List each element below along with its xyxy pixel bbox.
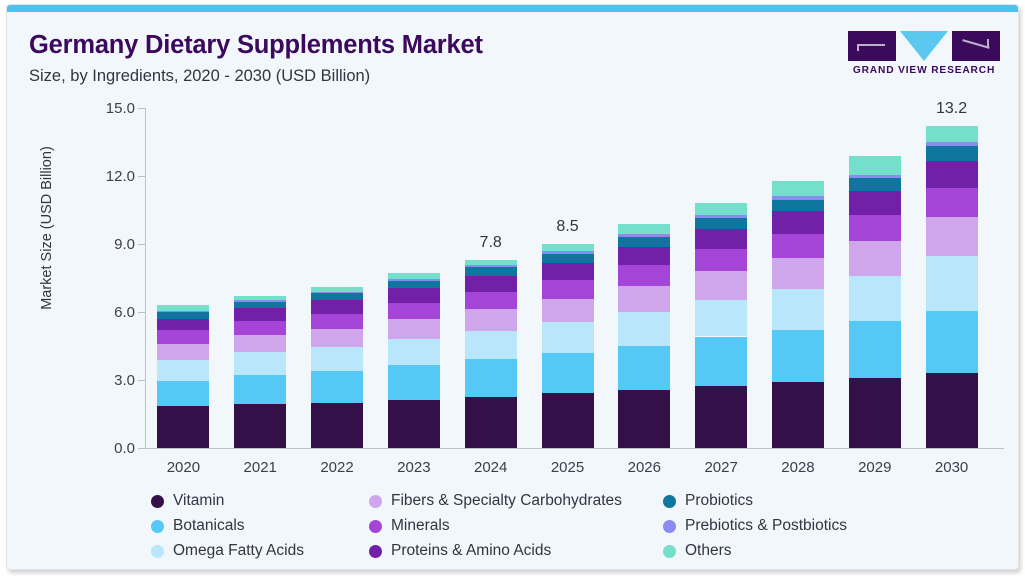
bar-segment — [542, 322, 594, 353]
bar-segment — [157, 406, 209, 448]
chart-legend: VitaminBotanicalsOmega Fatty AcidsFibers… — [151, 492, 1011, 564]
bar-segment — [465, 331, 517, 359]
bar-segment — [542, 244, 594, 251]
bar-segment — [695, 386, 747, 448]
legend-color-swatch-icon — [151, 545, 164, 558]
bar-segment — [157, 311, 209, 313]
bar-2027[interactable] — [695, 203, 747, 448]
bar-segment — [849, 175, 901, 178]
legend-item-minerals[interactable]: Minerals — [369, 517, 450, 535]
bar-segment — [465, 260, 517, 265]
bar-segment — [926, 217, 978, 256]
legend-color-swatch-icon — [369, 545, 382, 558]
bar-segment — [234, 302, 286, 309]
bar-segment — [388, 319, 440, 339]
bar-segment — [234, 296, 286, 300]
bar-segment — [618, 346, 670, 390]
bar-segment — [542, 353, 594, 393]
bar-segment — [465, 267, 517, 275]
bar-segment — [465, 276, 517, 292]
bar-2028[interactable] — [772, 181, 824, 448]
bar-segment — [465, 292, 517, 309]
bar-segment — [388, 365, 440, 400]
x-tick-label: 2030 — [912, 459, 992, 476]
bar-2022[interactable] — [311, 287, 363, 448]
y-tick-mark — [138, 312, 145, 313]
bar-segment — [388, 339, 440, 365]
bar-segment — [618, 237, 670, 247]
bar-value-label: 13.2 — [912, 100, 992, 118]
bar-segment — [311, 347, 363, 371]
legend-item-label: Omega Fatty Acids — [173, 542, 304, 560]
bar-segment — [388, 303, 440, 319]
legend-item-label: Proteins & Amino Acids — [391, 542, 551, 560]
bar-value-label: 7.8 — [451, 234, 531, 252]
bar-segment — [772, 181, 824, 197]
bar-segment — [311, 300, 363, 314]
legend-item-vitamin[interactable]: Vitamin — [151, 492, 224, 510]
y-tick-label: 6.0 — [91, 304, 135, 321]
bar-segment — [695, 300, 747, 337]
bar-segment — [311, 403, 363, 448]
legend-item-probiotics[interactable]: Probiotics — [663, 492, 753, 510]
bar-segment — [772, 196, 824, 199]
bar-segment — [157, 330, 209, 343]
legend-item-fibers-specialty-carbohydrates[interactable]: Fibers & Specialty Carbohydrates — [369, 492, 622, 510]
bar-segment — [772, 234, 824, 258]
y-tick-label: 0.0 — [91, 440, 135, 457]
bar-segment — [234, 321, 286, 335]
legend-item-label: Vitamin — [173, 492, 224, 510]
bar-segment — [234, 300, 286, 302]
bar-segment — [926, 126, 978, 142]
bar-segment — [388, 279, 440, 281]
bar-2025[interactable] — [542, 244, 594, 448]
bar-segment — [772, 200, 824, 212]
bar-segment — [618, 286, 670, 312]
bar-segment — [311, 371, 363, 403]
x-tick-label: 2027 — [681, 459, 761, 476]
bar-segment — [618, 265, 670, 286]
bar-segment — [388, 400, 440, 448]
bar-segment — [234, 335, 286, 352]
legend-item-label: Minerals — [391, 517, 450, 535]
legend-item-label: Prebiotics & Postbiotics — [685, 517, 847, 535]
x-tick-label: 2026 — [604, 459, 684, 476]
bar-segment — [157, 381, 209, 407]
bar-segment — [311, 329, 363, 347]
stacked-bar-chart: Market Size (USD Billion) 0.03.06.09.012… — [7, 5, 1019, 570]
bar-segment — [311, 314, 363, 329]
y-tick-mark — [138, 108, 145, 109]
legend-item-label: Botanicals — [173, 517, 245, 535]
bar-segment — [157, 344, 209, 360]
legend-color-swatch-icon — [663, 495, 676, 508]
legend-item-prebiotics-postbiotics[interactable]: Prebiotics & Postbiotics — [663, 517, 847, 535]
bar-segment — [465, 397, 517, 448]
x-tick-label: 2022 — [297, 459, 377, 476]
bar-segment — [157, 312, 209, 318]
bar-segment — [772, 258, 824, 289]
bar-segment — [695, 229, 747, 249]
bar-segment — [157, 360, 209, 381]
legend-item-others[interactable]: Others — [663, 542, 732, 560]
y-tick-mark — [138, 448, 145, 449]
bar-segment — [926, 161, 978, 188]
x-tick-label: 2023 — [374, 459, 454, 476]
y-tick-label: 12.0 — [91, 168, 135, 185]
bar-segment — [926, 311, 978, 373]
bar-segment — [542, 263, 594, 280]
bar-segment — [388, 288, 440, 303]
bar-segment — [465, 309, 517, 331]
bar-segment — [772, 330, 824, 382]
bar-2026[interactable] — [618, 224, 670, 448]
legend-color-swatch-icon — [151, 495, 164, 508]
bar-segment — [772, 289, 824, 330]
bar-segment — [849, 321, 901, 378]
legend-color-swatch-icon — [369, 495, 382, 508]
bar-segment — [772, 211, 824, 233]
y-tick-mark — [138, 380, 145, 381]
legend-color-swatch-icon — [663, 545, 676, 558]
bar-segment — [311, 287, 363, 292]
bar-segment — [388, 281, 440, 289]
bar-segment — [849, 156, 901, 175]
bar-segment — [695, 337, 747, 386]
legend-item-label: Probiotics — [685, 492, 753, 510]
y-axis-line — [145, 108, 146, 449]
bar-segment — [772, 382, 824, 448]
bar-segment — [542, 251, 594, 253]
bar-segment — [926, 142, 978, 146]
bar-2020[interactable] — [157, 305, 209, 448]
bar-segment — [465, 265, 517, 267]
bar-segment — [849, 276, 901, 321]
bar-value-label: 8.5 — [528, 218, 608, 236]
x-tick-label: 2021 — [220, 459, 300, 476]
x-tick-label: 2024 — [451, 459, 531, 476]
bar-segment — [849, 378, 901, 448]
bar-segment — [542, 254, 594, 263]
y-tick-mark — [138, 244, 145, 245]
bar-2023[interactable] — [388, 273, 440, 448]
y-tick-mark — [138, 176, 145, 177]
bar-segment — [465, 359, 517, 397]
bar-segment — [849, 191, 901, 215]
y-axis-title: Market Size (USD Billion) — [39, 98, 55, 358]
bar-segment — [234, 352, 286, 375]
legend-item-label: Fibers & Specialty Carbohydrates — [391, 492, 622, 510]
bar-segment — [926, 188, 978, 217]
x-tick-label: 2025 — [528, 459, 608, 476]
bar-segment — [311, 292, 363, 294]
bar-segment — [234, 308, 286, 321]
bar-2029[interactable] — [849, 156, 901, 448]
bar-segment — [926, 146, 978, 161]
legend-color-swatch-icon — [151, 520, 164, 533]
y-tick-label: 9.0 — [91, 236, 135, 253]
bar-segment — [618, 247, 670, 266]
bar-segment — [926, 373, 978, 448]
bar-segment — [157, 305, 209, 311]
legend-color-swatch-icon — [663, 520, 676, 533]
legend-item-proteins-amino-acids[interactable]: Proteins & Amino Acids — [369, 542, 551, 560]
bar-segment — [849, 215, 901, 241]
bar-segment — [311, 293, 363, 300]
bar-segment — [234, 404, 286, 448]
bar-segment — [542, 280, 594, 299]
x-tick-label: 2028 — [758, 459, 838, 476]
bar-segment — [695, 249, 747, 271]
x-tick-label: 2029 — [835, 459, 915, 476]
bar-segment — [542, 393, 594, 448]
x-tick-label: 2020 — [143, 459, 223, 476]
bar-segment — [542, 299, 594, 323]
bar-2030[interactable] — [926, 126, 978, 448]
bar-segment — [618, 390, 670, 448]
bar-2024[interactable] — [465, 260, 517, 448]
bar-segment — [695, 215, 747, 218]
legend-item-label: Others — [685, 542, 732, 560]
chart-card: Germany Dietary Supplements Market Size,… — [6, 4, 1019, 570]
y-tick-label: 15.0 — [91, 100, 135, 117]
bar-segment — [849, 178, 901, 191]
bar-segment — [618, 224, 670, 234]
bar-segment — [695, 271, 747, 300]
bar-segment — [234, 375, 286, 405]
bar-segment — [618, 234, 670, 237]
bar-segment — [618, 312, 670, 346]
x-axis-line — [145, 448, 1004, 449]
legend-color-swatch-icon — [369, 520, 382, 533]
bar-segment — [695, 203, 747, 215]
bar-segment — [926, 256, 978, 310]
bar-segment — [695, 218, 747, 229]
bar-segment — [157, 319, 209, 331]
bar-segment — [849, 241, 901, 275]
bar-2021[interactable] — [234, 296, 286, 448]
bar-segment — [388, 273, 440, 278]
legend-item-omega-fatty-acids[interactable]: Omega Fatty Acids — [151, 542, 304, 560]
y-tick-label: 3.0 — [91, 372, 135, 389]
legend-item-botanicals[interactable]: Botanicals — [151, 517, 245, 535]
